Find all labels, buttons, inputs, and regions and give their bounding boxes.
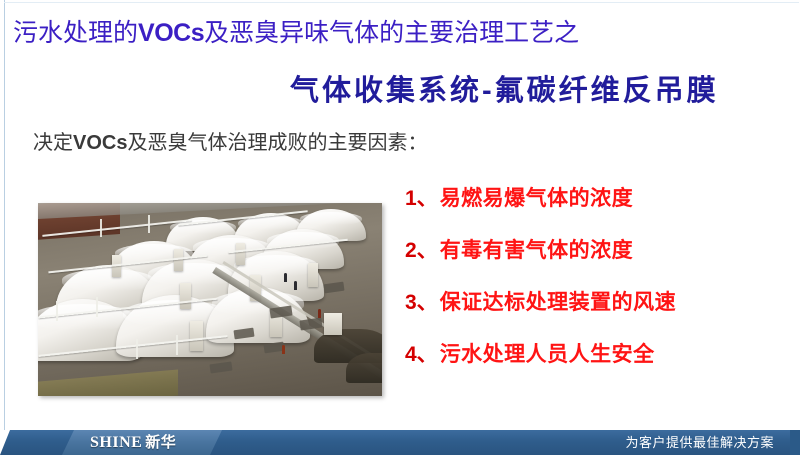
slide-left-border xyxy=(4,0,5,432)
photo-wastewater-membrane-covers xyxy=(38,203,382,396)
footer-bar: SHINE新华 为客户提供最佳解决方案 xyxy=(0,430,800,455)
list-item: 3、 保证达标处理装置的风速 xyxy=(405,286,735,338)
photo-worker xyxy=(282,345,285,354)
title-line-1-prefix: 污水处理的 xyxy=(13,19,138,47)
factors-list: 1、 易燃易爆气体的浓度 2、 有毒有害气体的浓度 3、 保证达标处理装置的风速… xyxy=(405,182,735,390)
photo-pier xyxy=(190,321,203,351)
photo-worker xyxy=(284,273,287,282)
photo-pier xyxy=(324,313,342,335)
list-item-number: 4、 xyxy=(405,338,438,368)
title-line-2: 气体收集系统-氟碳纤维反吊膜 xyxy=(290,74,719,108)
list-item-number: 3、 xyxy=(405,286,438,316)
list-item-label: 有毒有害气体的浓度 xyxy=(440,234,634,264)
brand-logo-en: SHINE xyxy=(90,434,142,451)
list-item-label: 污水处理人员人生安全 xyxy=(440,338,655,368)
photo-rail-post xyxy=(96,297,98,317)
list-item-label: 保证达标处理装置的风速 xyxy=(440,286,677,316)
footer-left-notch xyxy=(0,430,14,455)
photo-rail-post xyxy=(176,335,178,355)
footer-right-cap xyxy=(790,430,800,455)
photo-rail-post xyxy=(136,339,138,359)
list-item-label: 易燃易爆气体的浓度 xyxy=(440,182,634,212)
title-line-1-vocs: VOCs xyxy=(138,19,204,47)
slide-canvas: 污水处理的VOCs及恶臭异味气体的主要治理工艺之 气体收集系统-氟碳纤维反吊膜 … xyxy=(0,0,800,455)
photo-pier xyxy=(236,243,245,265)
photo-pier xyxy=(308,263,318,287)
list-item: 4、 污水处理人员人生安全 xyxy=(405,338,735,390)
subtitle-prefix: 决定 xyxy=(33,132,73,154)
list-item: 2、 有毒有害气体的浓度 xyxy=(405,234,735,286)
photo-pier xyxy=(180,283,191,309)
footer-slogan: 为客户提供最佳解决方案 xyxy=(625,434,774,452)
slide-top-border xyxy=(4,2,799,3)
photo-rail-post xyxy=(148,215,150,233)
list-item-number: 2、 xyxy=(405,234,438,264)
photo-rail-post xyxy=(56,301,58,321)
brand-logo-cn: 新华 xyxy=(145,434,176,451)
title-line-1: 污水处理的VOCs及恶臭异味气体的主要治理工艺之 xyxy=(13,18,579,48)
list-item-number: 1、 xyxy=(405,182,438,212)
photo-rail-post xyxy=(100,219,102,237)
brand-logo: SHINE新华 xyxy=(90,433,176,453)
photo-worker xyxy=(318,309,321,318)
title-line-1-suffix: 及恶臭异味气体的主要治理工艺之 xyxy=(204,19,579,47)
subtitle-question: 决定VOCs及恶臭气体治理成败的主要因素： xyxy=(33,130,427,156)
photo-worker xyxy=(294,281,297,290)
list-item: 1、 易燃易爆气体的浓度 xyxy=(405,182,735,234)
subtitle-suffix: 及恶臭气体治理成败的主要因素： xyxy=(127,132,427,154)
subtitle-vocs: VOCs xyxy=(73,132,127,154)
photo-frame xyxy=(38,203,382,396)
